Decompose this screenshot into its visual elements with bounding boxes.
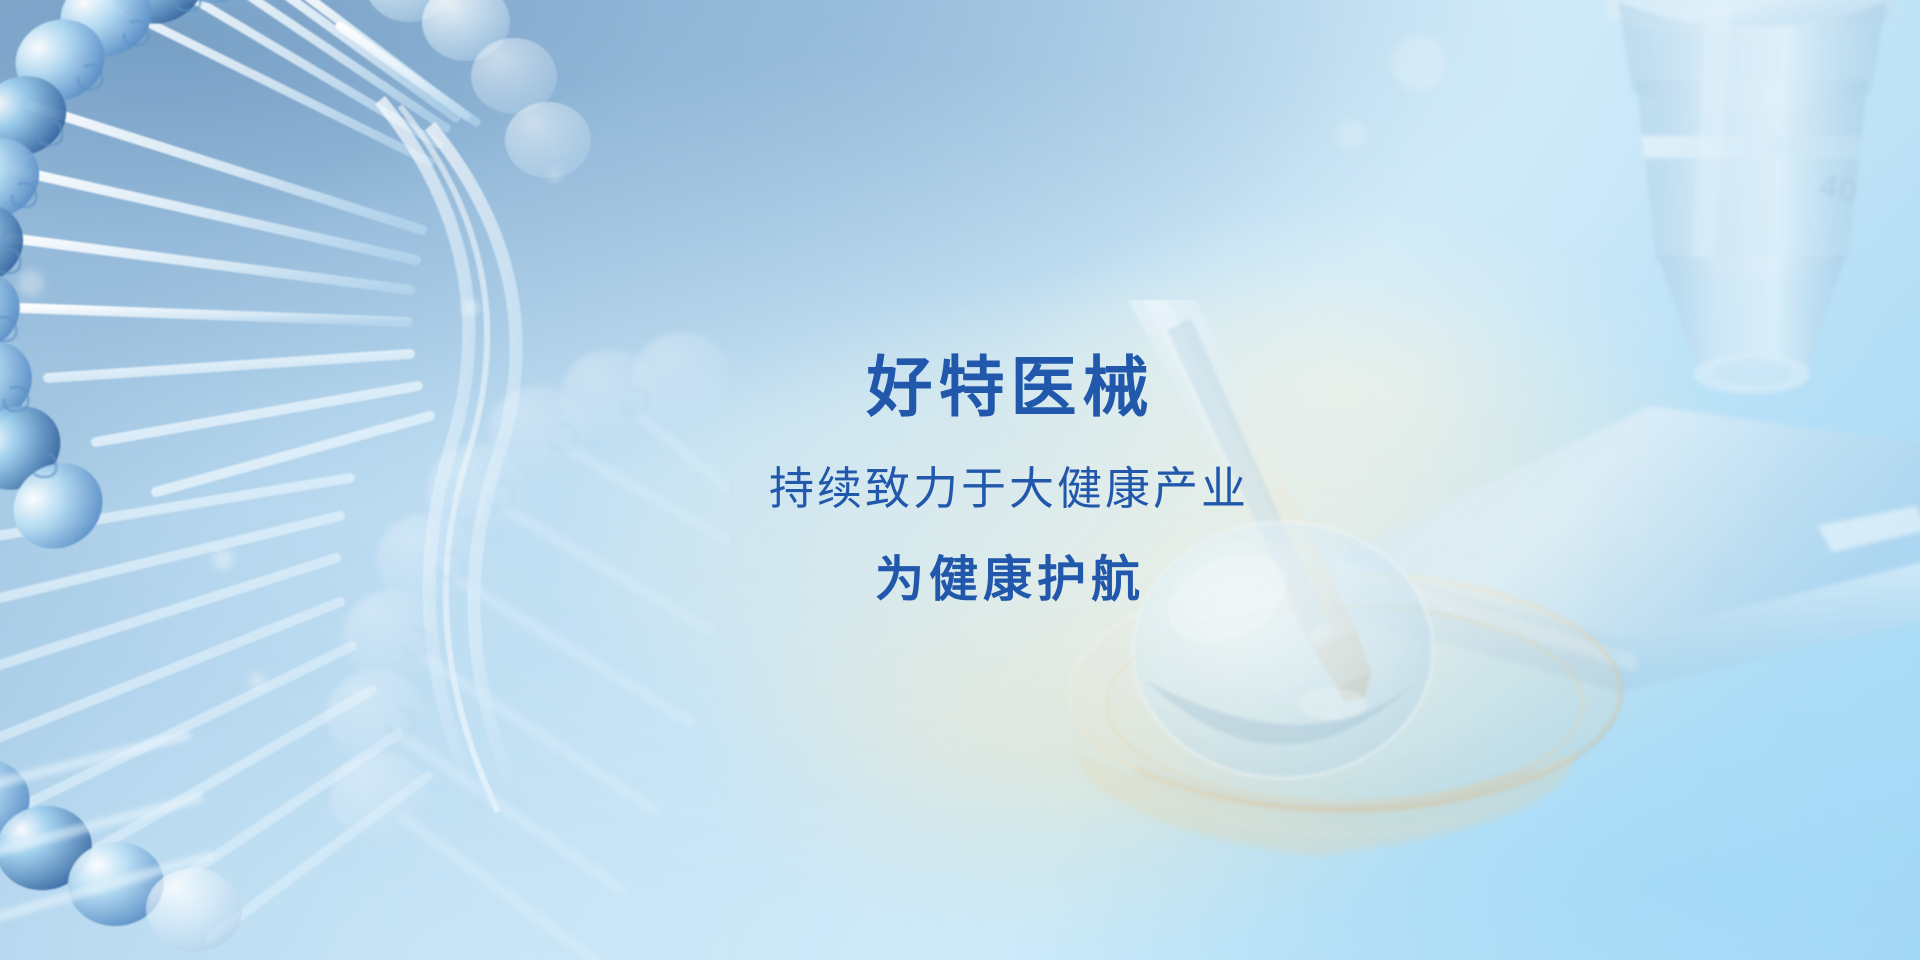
bokeh-dot bbox=[1336, 120, 1366, 150]
hero-tagline: 为健康护航 bbox=[698, 553, 1318, 608]
hero-banner: 40 bbox=[0, 0, 1920, 960]
dna-helix-icon bbox=[0, 0, 730, 960]
page-title: 好特医械 bbox=[698, 352, 1318, 423]
svg-text:40: 40 bbox=[1817, 169, 1860, 209]
bokeh-dot bbox=[1392, 36, 1446, 90]
hero-copy-inner: 好特医械 持续致力于大健康产业 为健康护航 bbox=[698, 352, 1318, 607]
hero-subtitle: 持续致力于大健康产业 bbox=[698, 462, 1318, 515]
